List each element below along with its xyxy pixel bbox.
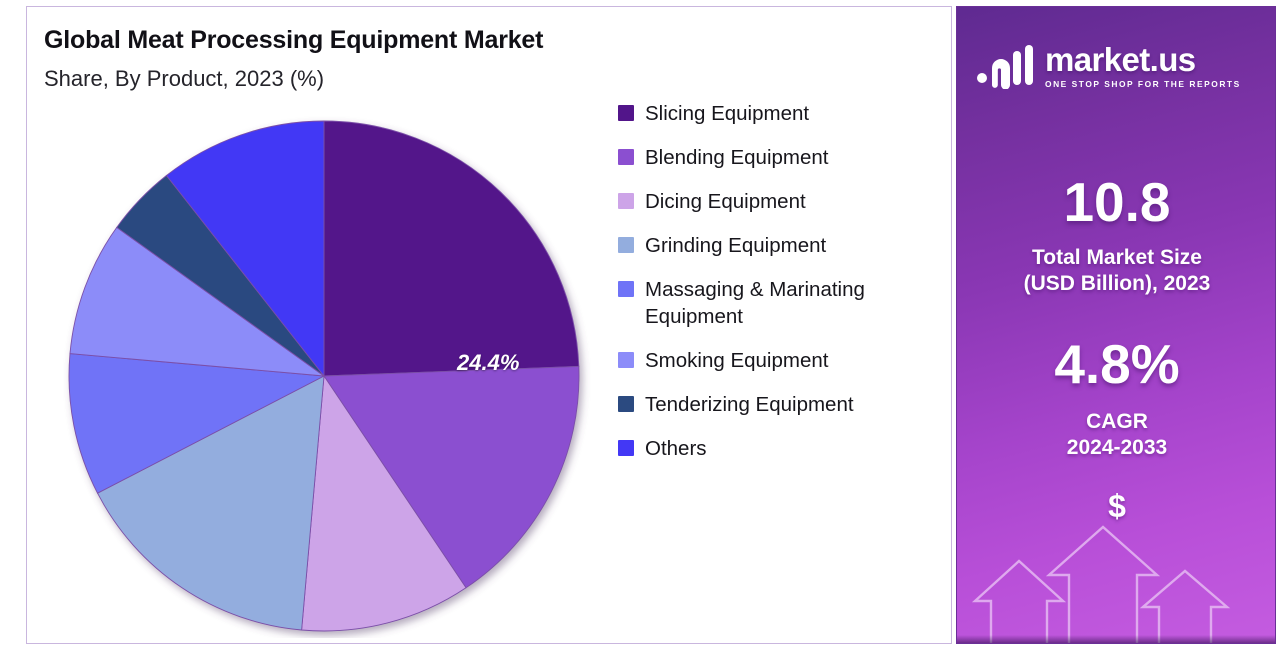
cagr-caption-line1: CAGR [957,409,1276,435]
legend-item-label: Smoking Equipment [645,347,828,374]
cagr-caption: CAGR 2024-2033 [957,409,1276,460]
legend-item-label: Massaging & Marinating Equipment [645,276,948,330]
brand-name: market.us [1045,43,1241,76]
legend-item[interactable]: Others [618,435,948,462]
market-us-logo-icon [975,43,1037,89]
legend-item[interactable]: Smoking Equipment [618,347,948,374]
pie-slice-label-slicing: 24.4% [457,350,519,376]
legend-swatch-icon [618,352,634,368]
legend-item-label: Slicing Equipment [645,100,809,127]
legend-item[interactable]: Slicing Equipment [618,100,948,127]
legend-item[interactable]: Blending Equipment [618,144,948,171]
cagr-value: 4.8% [957,337,1276,392]
pie-chart: 24.4% [62,110,604,638]
growth-arrows-icon [957,483,1276,643]
legend-swatch-icon [618,237,634,253]
market-size-caption: Total Market Size (USD Billion), 2023 [957,245,1276,296]
brand-logo-text: market.us ONE STOP SHOP FOR THE REPORTS [1045,43,1241,89]
chart-legend: Slicing EquipmentBlending EquipmentDicin… [618,100,948,479]
legend-swatch-icon [618,105,634,121]
page-subtitle: Share, By Product, 2023 (%) [44,66,324,92]
legend-item-label: Grinding Equipment [645,232,826,259]
cagr-caption-line2: 2024-2033 [957,435,1276,461]
market-size-caption-line2: (USD Billion), 2023 [957,271,1276,297]
market-size-value: 10.8 [957,175,1276,230]
legend-item[interactable]: Tenderizing Equipment [618,391,948,418]
stats-sidebar: market.us ONE STOP SHOP FOR THE REPORTS … [956,6,1276,644]
legend-item[interactable]: Massaging & Marinating Equipment [618,276,948,330]
legend-swatch-icon [618,193,634,209]
pie-slice[interactable] [324,121,579,376]
pie-chart-svg [62,110,604,638]
brand-logo[interactable]: market.us ONE STOP SHOP FOR THE REPORTS [975,37,1259,95]
infographic-page: Global Meat Processing Equipment Market … [0,0,1280,652]
brand-tagline: ONE STOP SHOP FOR THE REPORTS [1045,79,1241,89]
page-margin-left [0,0,22,652]
page-title: Global Meat Processing Equipment Market [44,26,543,55]
legend-swatch-icon [618,149,634,165]
legend-swatch-icon [618,440,634,456]
legend-item[interactable]: Grinding Equipment [618,232,948,259]
legend-swatch-icon [618,281,634,297]
legend-item-label: Blending Equipment [645,144,829,171]
legend-item-label: Dicing Equipment [645,188,806,215]
legend-item[interactable]: Dicing Equipment [618,188,948,215]
legend-item-label: Others [645,435,707,462]
legend-swatch-icon [618,396,634,412]
chart-area: Global Meat Processing Equipment Market … [26,6,952,644]
market-size-caption-line1: Total Market Size [957,245,1276,271]
legend-item-label: Tenderizing Equipment [645,391,854,418]
